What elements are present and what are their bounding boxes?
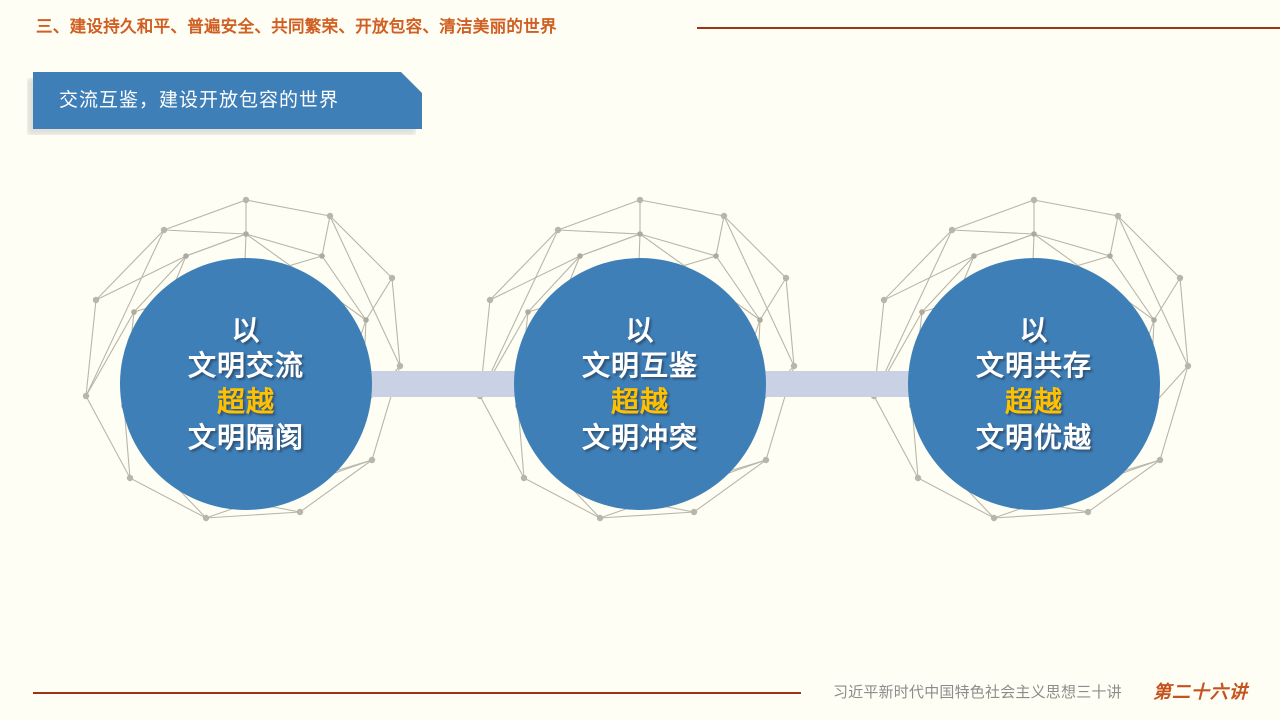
footer-divider — [33, 692, 801, 694]
node-1-line-1: 以 — [231, 313, 260, 349]
connector-bar-1-2 — [360, 371, 530, 397]
node-2-line-1: 以 — [625, 313, 654, 349]
footer-book-title: 习近平新时代中国特色社会主义思想三十讲 — [833, 681, 1122, 702]
section-banner: 交流互鉴，建设开放包容的世界 — [33, 72, 422, 129]
diagram-node-2[interactable]: 以 文明互鉴 超越 文明冲突 — [514, 258, 766, 510]
slide-footer: 习近平新时代中国特色社会主义思想三十讲 第二十六讲 — [0, 672, 1280, 720]
footer-lecture-number: 第二十六讲 — [1153, 678, 1248, 704]
node-3-line-2: 文明共存 — [976, 348, 1092, 384]
node-1-line-2: 文明交流 — [188, 348, 304, 384]
node-1-line-4: 文明隔阂 — [188, 420, 304, 456]
diagram-three-node-progression: 以 文明交流 超越 文明隔阂 以 文明互鉴 超越 文明冲突 以 文明共存 超越 … — [0, 160, 1280, 630]
node-2-line-3: 超越 — [611, 384, 669, 420]
diagram-node-1[interactable]: 以 文明交流 超越 文明隔阂 — [120, 258, 372, 510]
header-divider — [697, 27, 1280, 29]
diagram-node-3[interactable]: 以 文明共存 超越 文明优越 — [908, 258, 1160, 510]
node-3-line-4: 文明优越 — [976, 420, 1092, 456]
node-2-line-2: 文明互鉴 — [582, 348, 698, 384]
node-2-line-4: 文明冲突 — [582, 420, 698, 456]
connector-bar-2-3 — [750, 371, 920, 397]
section-banner-label: 交流互鉴，建设开放包容的世界 — [59, 85, 339, 112]
page-title: 三、建设持久和平、普遍安全、共同繁荣、开放包容、清洁美丽的世界 — [36, 13, 557, 37]
node-1-line-3: 超越 — [217, 384, 275, 420]
slide-header: 三、建设持久和平、普遍安全、共同繁荣、开放包容、清洁美丽的世界 — [0, 0, 1280, 50]
node-3-line-1: 以 — [1019, 313, 1048, 349]
node-3-line-3: 超越 — [1005, 384, 1063, 420]
